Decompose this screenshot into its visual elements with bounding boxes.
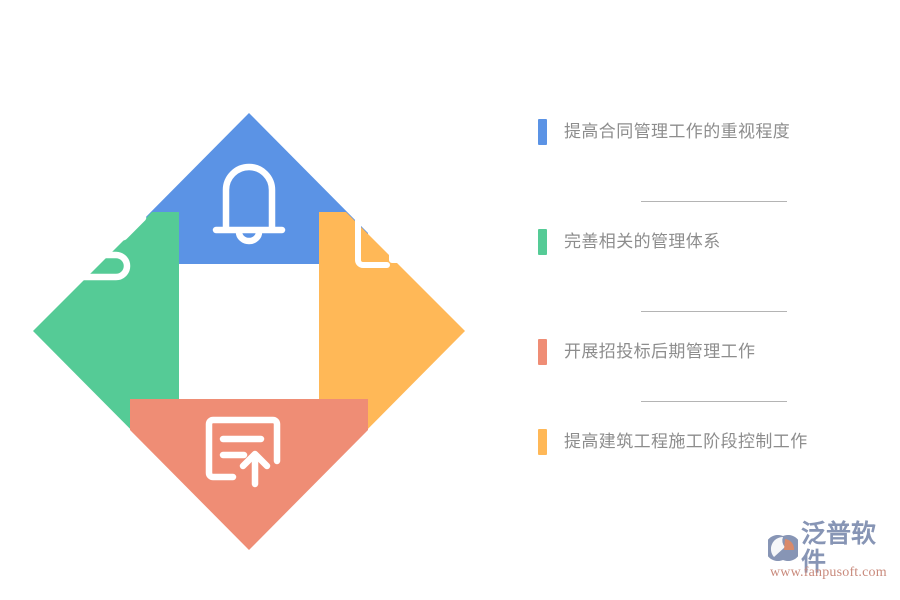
legend-divider xyxy=(641,311,787,312)
diagram-canvas: 提高合同管理工作的重视程度 完善相关的管理体系 开展招投标后期管理工作 提高建筑… xyxy=(0,0,900,600)
legend-item-label: 提高合同管理工作的重视程度 xyxy=(564,119,790,145)
watermark: 泛普软件 www.fanpusoft.com xyxy=(768,532,894,582)
watermark-brand-row: 泛普软件 xyxy=(768,533,894,563)
legend-divider xyxy=(641,401,787,402)
legend-swatch-icon xyxy=(538,429,547,455)
legend-swatch-icon xyxy=(538,339,547,365)
legend-item[interactable]: 完善相关的管理体系 xyxy=(538,228,721,256)
fanpu-logo-icon xyxy=(768,534,798,562)
legend: 提高合同管理工作的重视程度 完善相关的管理体系 开展招投标后期管理工作 提高建筑… xyxy=(538,110,888,470)
watermark-url-text: www.fanpusoft.com xyxy=(770,564,887,581)
legend-divider xyxy=(641,201,787,202)
diagram-segment-bottom[interactable] xyxy=(130,399,368,550)
legend-item-label: 提高建筑工程施工阶段控制工作 xyxy=(564,429,808,455)
diamond-diagram xyxy=(33,113,465,550)
legend-swatch-icon xyxy=(538,229,547,255)
legend-item-label: 开展招投标后期管理工作 xyxy=(564,339,755,365)
legend-item-label: 完善相关的管理体系 xyxy=(564,229,721,255)
legend-item[interactable]: 提高合同管理工作的重视程度 xyxy=(538,118,790,146)
legend-item[interactable]: 提高建筑工程施工阶段控制工作 xyxy=(538,428,808,456)
legend-swatch-icon xyxy=(538,119,547,145)
legend-item[interactable]: 开展招投标后期管理工作 xyxy=(538,338,755,366)
